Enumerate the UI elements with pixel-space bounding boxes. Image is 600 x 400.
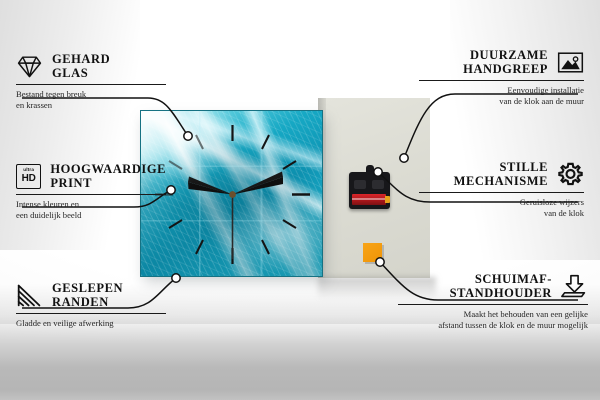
wall-clock <box>140 110 323 277</box>
feature-title-line1: GEHARD <box>52 52 110 66</box>
mechanism-battery <box>352 194 386 205</box>
feature-duurzame-handgreep: DUURZAME HANDGREEP Eenvoudige installati… <box>419 48 584 106</box>
feature-stille-mechanisme: STILLE MECHANISME Geruisloze wijzers van… <box>419 160 584 218</box>
feature-title-line1: GESLEPEN <box>52 281 123 295</box>
feature-desc-line1: Intense kleuren en <box>16 199 166 209</box>
foam-spacer <box>363 243 382 262</box>
feature-desc-line1: Bestand tegen breuk <box>16 89 166 99</box>
feature-title-line2: STANDHOUDER <box>450 286 552 300</box>
feature-divider <box>16 84 166 85</box>
background-vignette-right <box>450 0 600 260</box>
feature-geslepen-randen: GESLEPEN RANDEN Gladde en veilige afwerk… <box>16 281 166 329</box>
feature-divider <box>419 80 584 81</box>
feature-divider <box>16 194 166 195</box>
spacer-arrow-icon <box>561 273 588 300</box>
picture-frame-icon <box>557 49 584 76</box>
feature-divider <box>398 304 588 305</box>
feature-divider <box>419 192 584 193</box>
feature-desc-line2: van de klok aan de muur <box>419 96 584 106</box>
diamond-icon <box>16 53 43 80</box>
beveled-edge-icon <box>16 282 43 309</box>
feature-title-line1: STILLE <box>454 160 548 174</box>
ultra-hd-badge-icon: ultra HD <box>16 164 41 189</box>
feature-desc-line1: Gladde en veilige afwerking <box>16 318 166 328</box>
feature-title-line2: PRINT <box>50 176 166 190</box>
feature-title-line2: GLAS <box>52 66 110 80</box>
feature-title-line2: MECHANISME <box>454 174 548 188</box>
gear-icon <box>557 161 584 188</box>
feature-schuimafstandhouder: SCHUIMAF- STANDHOUDER Maakt het behouden… <box>398 272 588 330</box>
clock-face-markings <box>141 111 323 277</box>
product-infographic: GEHARD GLAS Bestand tegen breuk en krass… <box>0 0 600 400</box>
feature-title-line1: HOOGWAARDIGE <box>50 162 166 176</box>
feature-desc-line1: Geruisloze wijzers <box>419 197 584 207</box>
feature-desc-line1: Maakt het behouden van een gelijke <box>398 309 588 319</box>
ultra-hd-badge-large-label: HD <box>22 174 36 184</box>
feature-desc-line1: Eenvoudige installatie <box>419 85 584 95</box>
feature-desc-line2: en krassen <box>16 100 166 110</box>
mechanism-detail-left <box>354 180 366 189</box>
feature-desc-line2: een duidelijk beeld <box>16 210 166 220</box>
feature-hoogwaardige-print: ultra HD HOOGWAARDIGE PRINT Intense kleu… <box>16 162 166 220</box>
clock-center-hub <box>229 191 236 198</box>
feature-desc-line2: afstand tussen de klok en de muur mogeli… <box>398 320 588 330</box>
feature-gehard-glas: GEHARD GLAS Bestand tegen breuk en krass… <box>16 52 166 110</box>
feature-divider <box>16 313 166 314</box>
battery-terminal <box>385 196 390 203</box>
feature-title-line1: DUURZAME <box>463 48 548 62</box>
feature-desc-line2: van de klok <box>419 208 584 218</box>
feature-title-line1: SCHUIMAF- <box>450 272 552 286</box>
mechanism-detail-right <box>372 180 384 189</box>
feature-title-line2: RANDEN <box>52 295 123 309</box>
battery-label-band <box>352 198 386 200</box>
feature-title-line2: HANDGREEP <box>463 62 548 76</box>
